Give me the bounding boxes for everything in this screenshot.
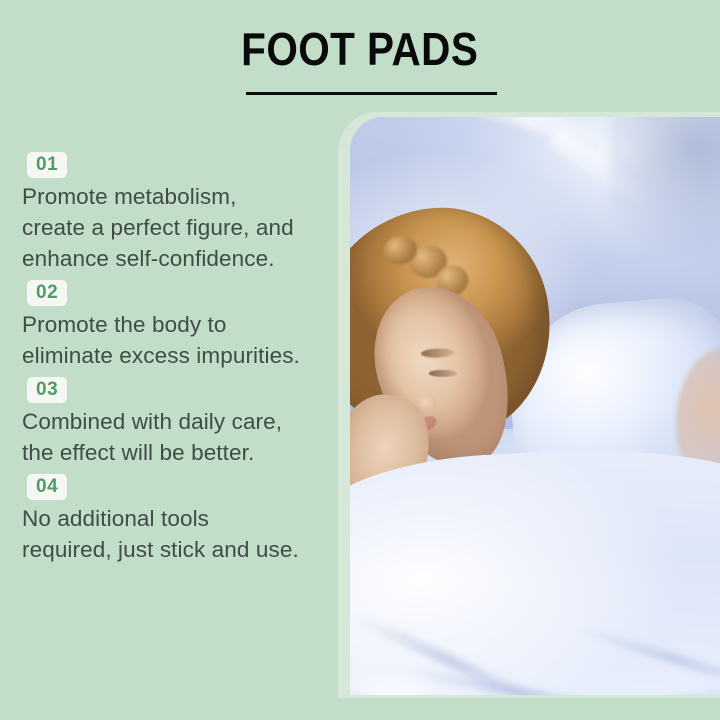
product-infographic-poster: FOOT PADS 01 Promote metabolism, create … [0, 0, 720, 720]
product-lifestyle-photo [350, 117, 720, 695]
title-block: FOOT PADS [0, 22, 720, 76]
list-item: 02 Promote the body to eliminate excess … [22, 280, 334, 371]
duvet-sheet [350, 440, 720, 695]
list-item: 04 No additional tools required, just st… [22, 474, 334, 565]
feature-number-badge: 01 [27, 152, 67, 178]
feature-description: Promote metabolism, create a perfect fig… [22, 181, 334, 274]
closed-eye [429, 369, 457, 376]
list-item: 01 Promote metabolism, create a perfect … [22, 152, 334, 274]
feature-description: No additional tools required, just stick… [22, 503, 334, 565]
eyebrow [420, 348, 453, 358]
feature-description: Combined with daily care, the effect wil… [22, 406, 334, 468]
photo-scene [350, 117, 720, 695]
feature-list: 01 Promote metabolism, create a perfect … [22, 152, 334, 571]
page-title: FOOT PADS [241, 22, 478, 76]
duvet-crease [578, 626, 720, 694]
title-underline-divider [246, 92, 497, 95]
feature-number-badge: 02 [27, 280, 67, 306]
feature-description: Promote the body to eliminate excess imp… [22, 309, 334, 371]
photo-shadow [609, 117, 720, 279]
feature-number-badge: 03 [27, 377, 67, 403]
feature-number-badge: 04 [27, 474, 67, 500]
list-item: 03 Combined with daily care, the effect … [22, 377, 334, 468]
